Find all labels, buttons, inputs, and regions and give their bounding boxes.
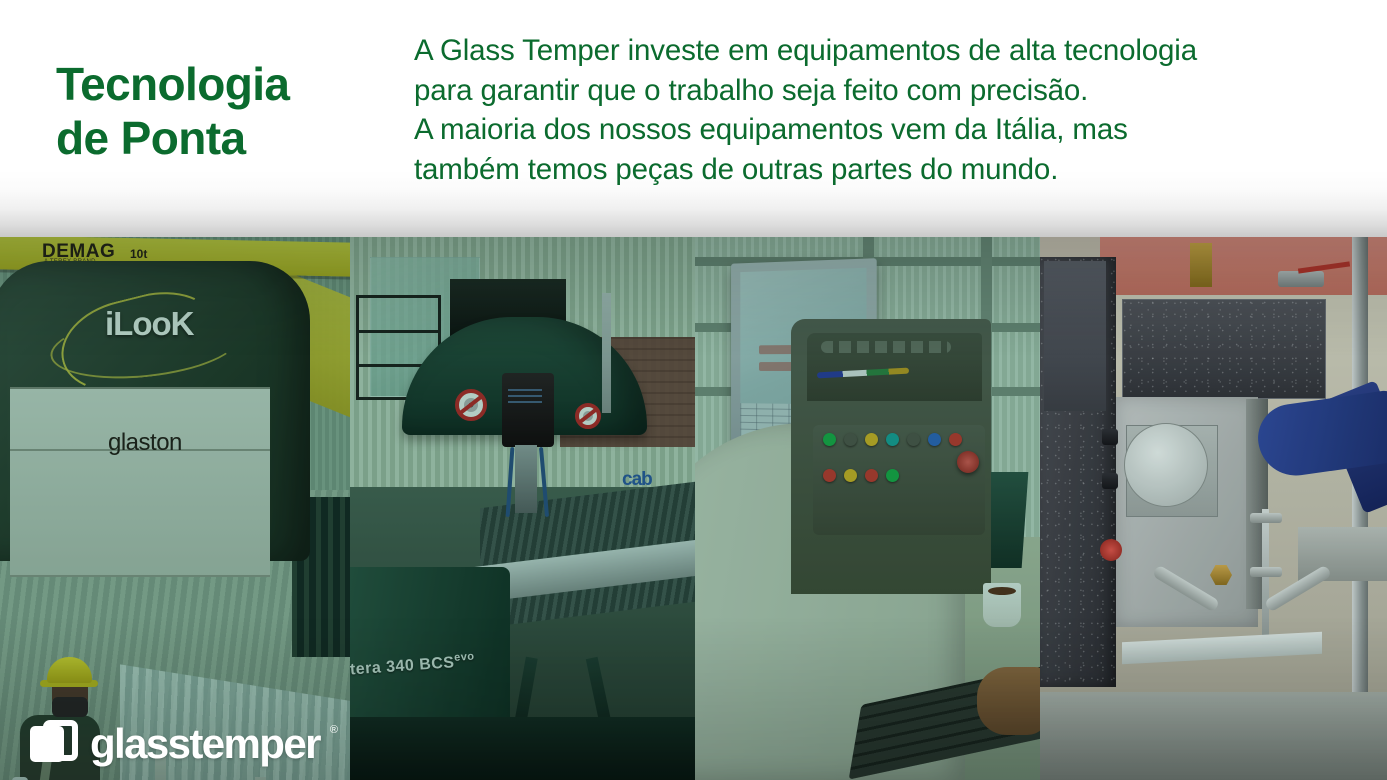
vertical-rail xyxy=(602,293,611,413)
console-button-red-1[interactable] xyxy=(949,433,962,446)
work-table xyxy=(1040,692,1387,780)
valve-body xyxy=(1278,271,1324,287)
console-button-red-2[interactable] xyxy=(823,469,836,482)
rod-clamp-upper xyxy=(1250,513,1282,523)
crane-capacity-label: 10t xyxy=(130,247,147,261)
furnace-door-panel xyxy=(10,387,270,577)
photo-cnc-glass-drilling-machine: cab ttera 340 BCSevo xyxy=(350,237,695,780)
page-title-line-2: de Ponta xyxy=(56,111,386,165)
drill-head-cover xyxy=(1122,299,1326,399)
console-button-row-top xyxy=(823,433,962,446)
red-wall-section xyxy=(1100,237,1387,299)
intro-paragraph-line-4: também temos peças de outras partes do m… xyxy=(414,150,1359,190)
console-button-blank-2[interactable] xyxy=(907,433,920,446)
machine-knob-2[interactable] xyxy=(1102,473,1118,489)
machine-brand-label: glaston xyxy=(108,429,182,457)
registered-trademark-mark: ® xyxy=(330,724,338,736)
logo-square-front xyxy=(43,720,78,761)
console-button-yellow[interactable] xyxy=(865,433,878,446)
glasstemper-wordmark: glasstemper xyxy=(90,723,320,765)
drill-head-housing xyxy=(502,373,554,447)
console-button-red-3[interactable] xyxy=(865,469,878,482)
intro-paragraph-line-3: A maioria dos nossos equipamentos vem da… xyxy=(414,110,1359,150)
console-button-blank-1[interactable] xyxy=(844,433,857,446)
warning-sticker-glyph-1 xyxy=(464,398,478,412)
glasstemper-logo-icon xyxy=(30,720,78,768)
photo-glaston-ilook-tempering-line: DEMAG A TEREX BRAND 10t iLooK glaston xyxy=(0,237,350,780)
emergency-stop-button[interactable] xyxy=(957,451,979,473)
header-band: Tecnologia de Ponta A Glass Temper inves… xyxy=(0,0,1387,237)
operator-hand xyxy=(977,667,1040,735)
console-button-teal[interactable] xyxy=(886,433,899,446)
drill-spindle xyxy=(515,445,537,513)
page-title-line-1: Tecnologia xyxy=(56,57,386,111)
console-button-row-bottom xyxy=(823,469,899,482)
column-access-panel xyxy=(1044,261,1106,411)
console-shelf-slots xyxy=(821,341,951,353)
console-button-amber[interactable] xyxy=(844,469,857,482)
console-button-green-2[interactable] xyxy=(886,469,899,482)
machine-model-label: iLooK xyxy=(105,305,193,343)
drill-head-line-3 xyxy=(508,401,542,403)
drill-head-line-1 xyxy=(508,389,542,391)
photo-strip: DEMAG A TEREX BRAND 10t iLooK glaston xyxy=(0,237,1387,780)
glasstemper-logo: glasstemper ® xyxy=(30,720,338,768)
page-title: Tecnologia de Ponta xyxy=(56,57,386,166)
emergency-stop-button[interactable] xyxy=(1100,539,1122,561)
warning-sticker-glyph-2 xyxy=(583,411,594,422)
intro-paragraph-line-2: para garantir que o trabalho seja feito … xyxy=(414,71,1359,111)
intro-paragraph-line-1: A Glass Temper investe em equipamentos d… xyxy=(414,31,1359,71)
intro-paragraph: A Glass Temper investe em equipamentos d… xyxy=(414,31,1359,190)
photo-operator-control-console: progroup xyxy=(695,237,1040,780)
console-button-green[interactable] xyxy=(823,433,836,446)
rod-clamp-lower xyxy=(1250,567,1282,577)
photo-glass-drilling-station xyxy=(1040,237,1387,780)
component-brand-label: cab xyxy=(622,469,652,491)
warning-sticker-icon-2 xyxy=(575,403,601,429)
coffee-cup xyxy=(983,583,1021,627)
drill-head-line-2 xyxy=(508,395,542,397)
console-button-blue[interactable] xyxy=(928,433,941,446)
machine-base xyxy=(350,717,695,780)
machine-knob-1[interactable] xyxy=(1102,429,1118,445)
brass-fitting xyxy=(1190,243,1212,287)
worker-face-mask xyxy=(52,697,88,717)
slide-root: Tecnologia de Ponta A Glass Temper inves… xyxy=(0,0,1387,780)
guide-rod xyxy=(1262,509,1269,649)
machine-model-suffix: evo xyxy=(454,650,475,663)
inspection-window xyxy=(1124,423,1208,507)
speckle-texture-2 xyxy=(1123,300,1325,398)
warning-sticker-icon-1 xyxy=(455,389,487,421)
